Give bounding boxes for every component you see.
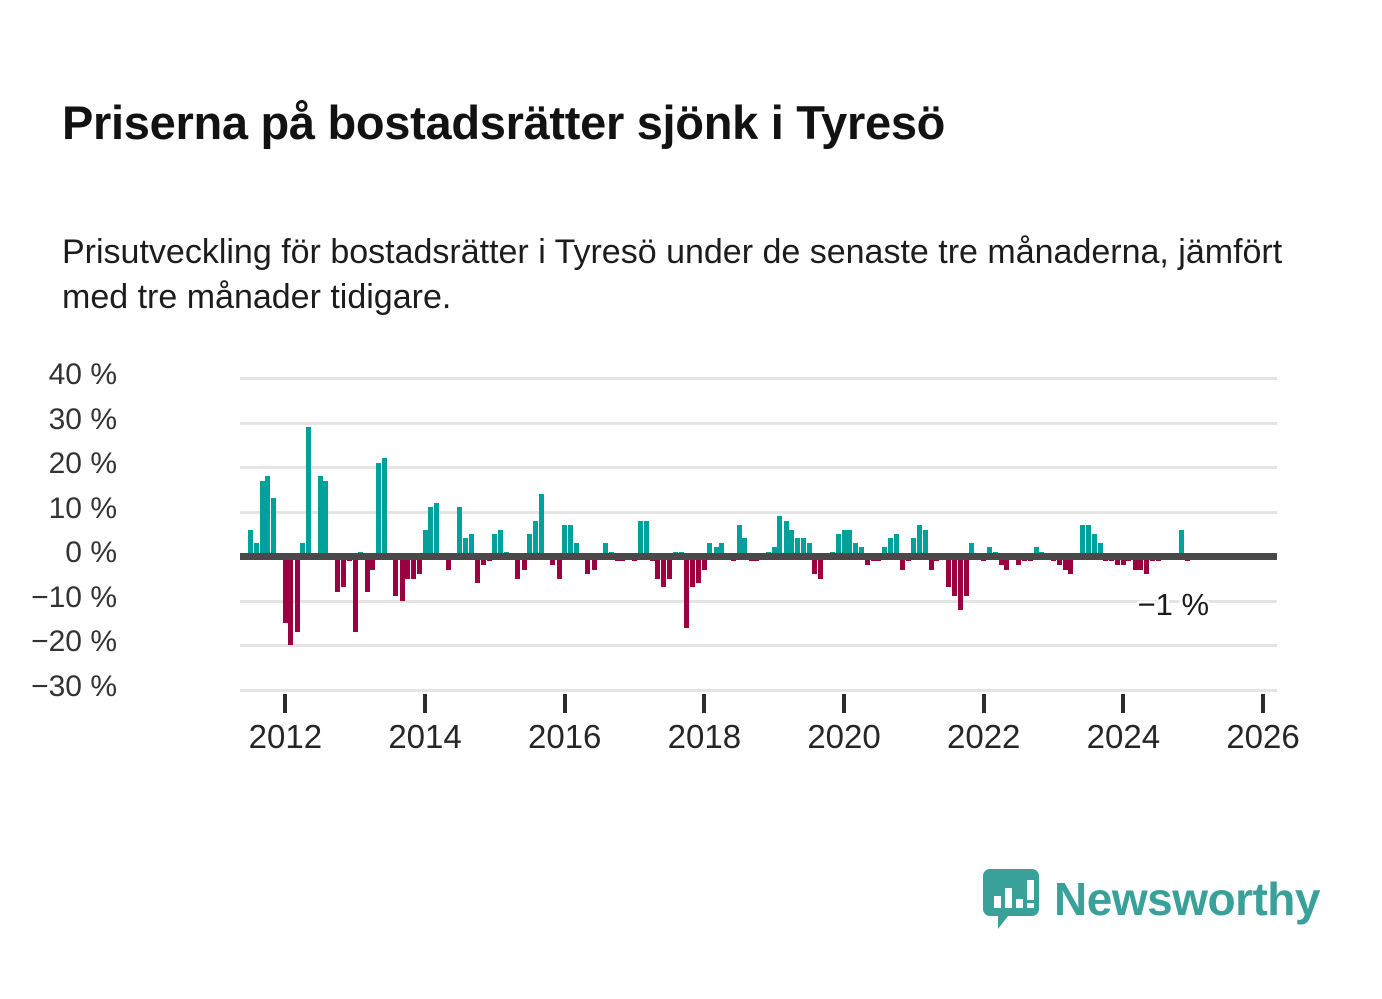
bar: [271, 498, 276, 556]
bar: [1179, 530, 1184, 557]
page-subtitle: Prisutveckling för bostadsrätter i Tyres…: [62, 230, 1312, 320]
bar: [737, 525, 742, 556]
bar: [423, 530, 428, 557]
x-axis-tick-label: 2016: [495, 718, 635, 756]
bar: [306, 427, 311, 556]
bar: [457, 507, 462, 556]
x-axis-tick-mark: [982, 694, 986, 713]
x-axis-tick-mark: [283, 694, 287, 713]
bar: [958, 556, 963, 609]
bar: [946, 556, 951, 587]
bar: [393, 556, 398, 596]
x-axis-tick-label: 2014: [355, 718, 495, 756]
y-axis-tick-label: −30 %: [0, 670, 117, 704]
bar: [248, 530, 253, 557]
logo-wordmark: Newsworthy: [1054, 876, 1320, 922]
x-axis-tick-label: 2022: [914, 718, 1054, 756]
bar: [498, 530, 503, 557]
bar: [265, 476, 270, 556]
bar: [638, 521, 643, 557]
bar: [842, 530, 847, 557]
bar: [789, 530, 794, 557]
bar: [777, 516, 782, 556]
bar: [696, 556, 701, 583]
bar: [400, 556, 405, 601]
bar: [644, 521, 649, 557]
bar: [341, 556, 346, 587]
bar: [353, 556, 358, 632]
chart-page: Priserna på bostadsrätter sjönk i Tyresö…: [0, 0, 1382, 999]
bar: [917, 525, 922, 556]
newsworthy-logo[interactable]: Newsworthy: [982, 868, 1320, 930]
bar: [661, 556, 666, 587]
bar: [283, 556, 288, 623]
bar: [539, 494, 544, 556]
x-axis-tick-label: 2026: [1193, 718, 1333, 756]
y-axis-tick-label: 30 %: [0, 403, 117, 437]
bar: [533, 521, 538, 557]
bar: [923, 530, 928, 557]
page-title: Priserna på bostadsrätter sjönk i Tyresö: [62, 97, 1322, 150]
zero-baseline: [240, 553, 1277, 560]
bar: [376, 463, 381, 557]
x-axis-tick-label: 2020: [774, 718, 914, 756]
bar: [428, 507, 433, 556]
x-axis: 20122014201620182020202220242026: [240, 690, 1277, 760]
y-axis-tick-label: 20 %: [0, 447, 117, 481]
bar: [562, 525, 567, 556]
bar: [964, 556, 969, 596]
x-axis-tick-mark: [563, 694, 567, 713]
bar: [475, 556, 480, 583]
bar: [952, 556, 957, 596]
value-annotation: −1 %: [1138, 587, 1210, 623]
bar: [382, 458, 387, 556]
x-axis-tick-mark: [702, 694, 706, 713]
x-axis-tick-mark: [1261, 694, 1265, 713]
y-axis-tick-label: 10 %: [0, 492, 117, 526]
bar-chart-speech-bubble-icon: [982, 868, 1040, 930]
bar: [1080, 525, 1085, 556]
bar: [323, 481, 328, 557]
y-axis-tick-label: −10 %: [0, 581, 117, 615]
bar: [434, 503, 439, 556]
bar: [684, 556, 689, 627]
bar: [365, 556, 370, 592]
bar: [295, 556, 300, 632]
x-axis-tick-mark: [423, 694, 427, 713]
bar: [690, 556, 695, 587]
bar-series: [240, 378, 1277, 690]
y-axis-tick-label: 40 %: [0, 358, 117, 392]
bar: [335, 556, 340, 592]
plot-area: 40 %30 %20 %10 %0 %−10 %−20 %−30 % −1 %: [240, 378, 1277, 690]
x-axis-tick-label: 2012: [215, 718, 355, 756]
bar: [847, 530, 852, 557]
bar: [288, 556, 293, 645]
x-axis-tick-label: 2018: [634, 718, 774, 756]
bar: [1086, 525, 1091, 556]
bar: [260, 481, 265, 557]
bar: [318, 476, 323, 556]
x-axis-tick-label: 2024: [1053, 718, 1193, 756]
bar: [784, 521, 789, 557]
x-axis-tick-mark: [1121, 694, 1125, 713]
bar: [568, 525, 573, 556]
bar-chart: 40 %30 %20 %10 %0 %−10 %−20 %−30 % −1 % …: [0, 350, 1382, 770]
y-axis-tick-label: 0 %: [0, 536, 117, 570]
x-axis-tick-mark: [842, 694, 846, 713]
y-axis-tick-label: −20 %: [0, 625, 117, 659]
